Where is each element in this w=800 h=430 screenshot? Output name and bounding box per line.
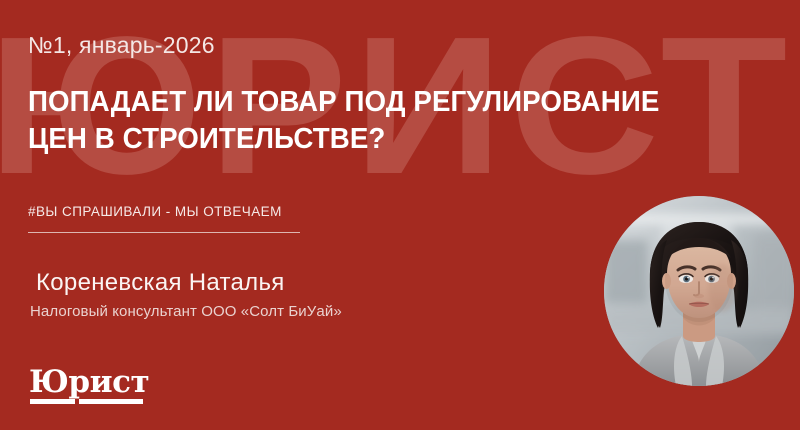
headline: ПОПАДАЕТ ЛИ ТОВАР ПОД РЕГУЛИРОВАНИЕ ЦЕН … [28,84,716,158]
rubric-hashtag: #ВЫ СПРАШИВАЛИ - МЫ ОТВЕЧАЕМ [28,204,282,219]
issue-label: №1, январь-2026 [28,32,215,59]
headline-line-1: ПОПАДАЕТ ЛИ ТОВАР ПОД РЕГУЛИРОВАНИЕ [28,84,716,121]
author-portrait [604,196,794,386]
author-portrait-image [604,196,794,386]
brand-logo[interactable]: Юрист [29,366,147,408]
brand-logo-underline [30,399,143,404]
brand-logo-text: Юрист [29,366,147,398]
author-role: Налоговый консультант ООО «Солт БиУай» [30,303,342,320]
headline-line-2: ЦЕН В СТРОИТЕЛЬСТВЕ? [28,121,716,158]
article-promo-banner: ЮРИСТ №1, январь-2026 ПОПАДАЕТ ЛИ ТОВАР … [0,0,800,430]
divider-rule [28,232,300,233]
author-name: Кореневская Наталья [36,269,285,297]
